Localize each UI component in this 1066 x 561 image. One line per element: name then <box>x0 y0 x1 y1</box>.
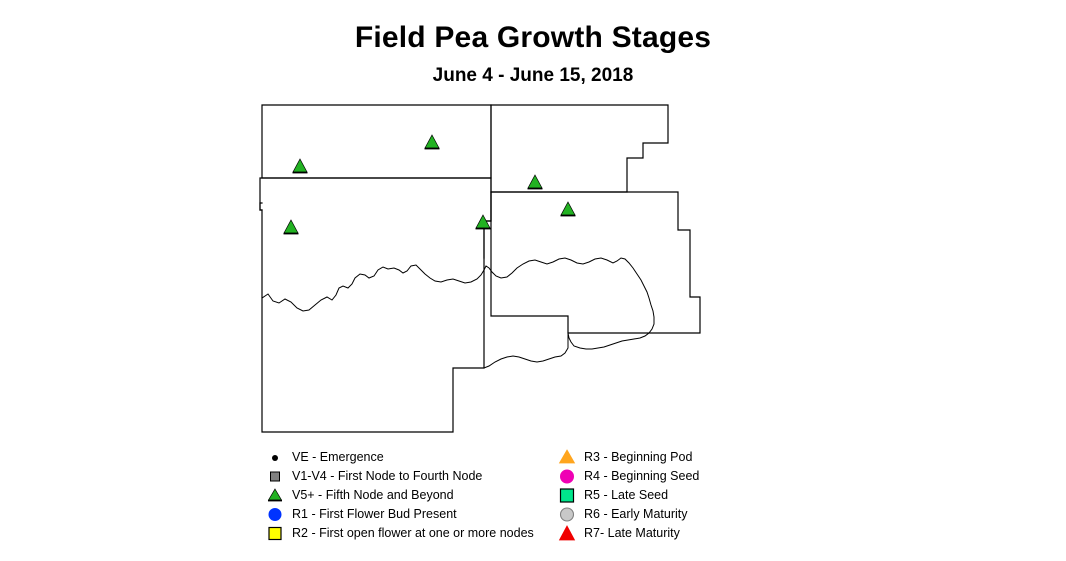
river-boundary <box>262 258 654 349</box>
legend-v5plus: V5+ - Fifth Node and Beyond <box>262 486 562 505</box>
square-icon <box>554 486 580 505</box>
map-marker[interactable] <box>561 202 576 216</box>
triangle-icon <box>554 524 580 543</box>
map-marker[interactable] <box>293 159 308 173</box>
map-marker[interactable] <box>425 135 440 149</box>
map-marker[interactable] <box>284 220 299 234</box>
legend-label: R3 - Beginning Pod <box>584 448 692 467</box>
legend-label: R6 - Early Maturity <box>584 505 688 524</box>
legend-label: R7- Late Maturity <box>584 524 680 543</box>
legend-r3: R3 - Beginning Pod <box>554 448 854 467</box>
map-svg <box>255 98 715 443</box>
dot-icon <box>262 448 288 467</box>
legend-label: R2 - First open flower at one or more no… <box>292 524 534 543</box>
legend-r4: R4 - Beginning Seed <box>554 467 854 486</box>
legend-v1-v4: V1-V4 - First Node to Fourth Node <box>262 467 562 486</box>
map-marker[interactable] <box>476 215 491 229</box>
county-outline-southeast <box>491 192 700 333</box>
legend-label: VE - Emergence <box>292 448 384 467</box>
map-outlines <box>260 105 700 432</box>
legend-label: V1-V4 - First Node to Fourth Node <box>292 467 482 486</box>
map-panel <box>255 98 715 443</box>
legend-r7: R7- Late Maturity <box>554 524 854 543</box>
legend-column-right: R3 - Beginning Pod R4 - Beginning Seed R… <box>554 448 854 543</box>
map-marker[interactable] <box>528 175 543 189</box>
river-boundary-lower-left <box>484 333 568 368</box>
legend-r1: R1 - First Flower Bud Present <box>262 505 562 524</box>
legend-label: V5+ - Fifth Node and Beyond <box>292 486 454 505</box>
county-outline-northeast <box>491 105 668 192</box>
legend-label: R1 - First Flower Bud Present <box>292 505 457 524</box>
triangle-icon <box>554 448 580 467</box>
page-title: Field Pea Growth Stages <box>0 20 1066 56</box>
triangle-icon <box>262 486 288 505</box>
page-subtitle: June 4 - June 15, 2018 <box>0 64 1066 88</box>
legend-r2: R2 - First open flower at one or more no… <box>262 524 562 543</box>
square-icon <box>262 467 288 486</box>
map-markers <box>284 135 576 234</box>
circle-icon <box>262 505 288 524</box>
legend-r5: R5 - Late Seed <box>554 486 854 505</box>
circle-icon <box>554 467 580 486</box>
legend: VE - Emergence V1-V4 - First Node to Fou… <box>262 448 822 548</box>
legend-r6: R6 - Early Maturity <box>554 505 854 524</box>
figure-root: Field Pea Growth Stages June 4 - June 15… <box>0 0 1066 561</box>
legend-ve: VE - Emergence <box>262 448 562 467</box>
county-edge-notch-west <box>260 203 262 210</box>
circle-icon <box>554 505 580 524</box>
legend-label: R4 - Beginning Seed <box>584 467 699 486</box>
legend-column-left: VE - Emergence V1-V4 - First Node to Fou… <box>262 448 562 543</box>
legend-label: R5 - Late Seed <box>584 486 668 505</box>
square-icon <box>262 524 288 543</box>
